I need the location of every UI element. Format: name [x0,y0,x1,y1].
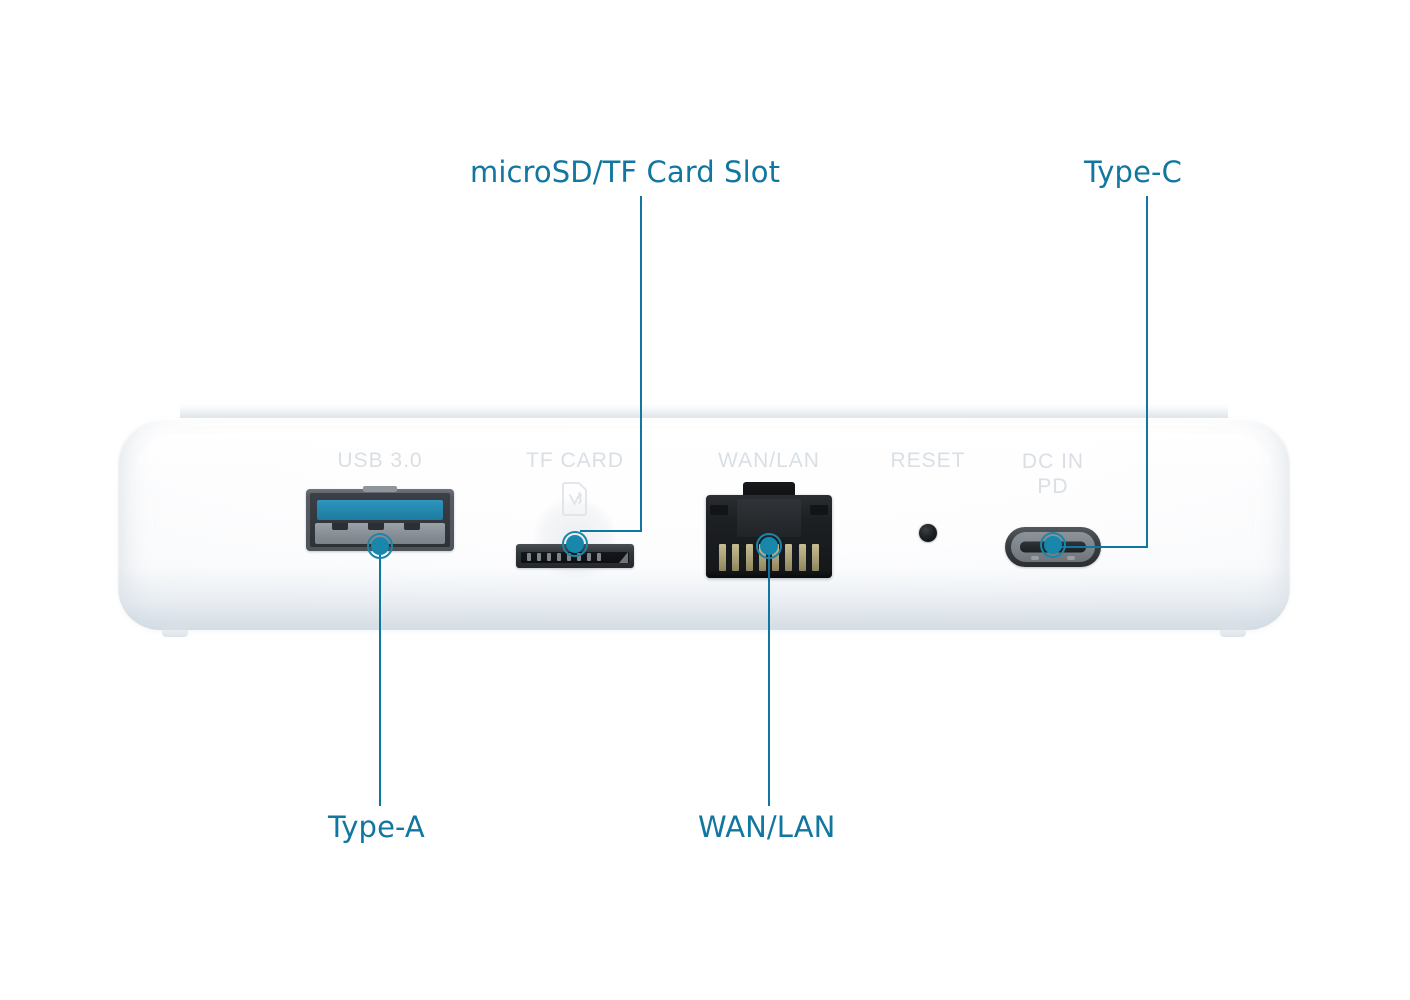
marker-typec [1041,533,1065,557]
marker-wanlan [757,534,781,558]
callout-markers [0,0,1410,1000]
marker-typea [368,534,392,558]
marker-microsd [563,532,587,556]
diagram-canvas: microSD/TF Card Slot Type-C Type-A WAN/L… [0,0,1410,1000]
